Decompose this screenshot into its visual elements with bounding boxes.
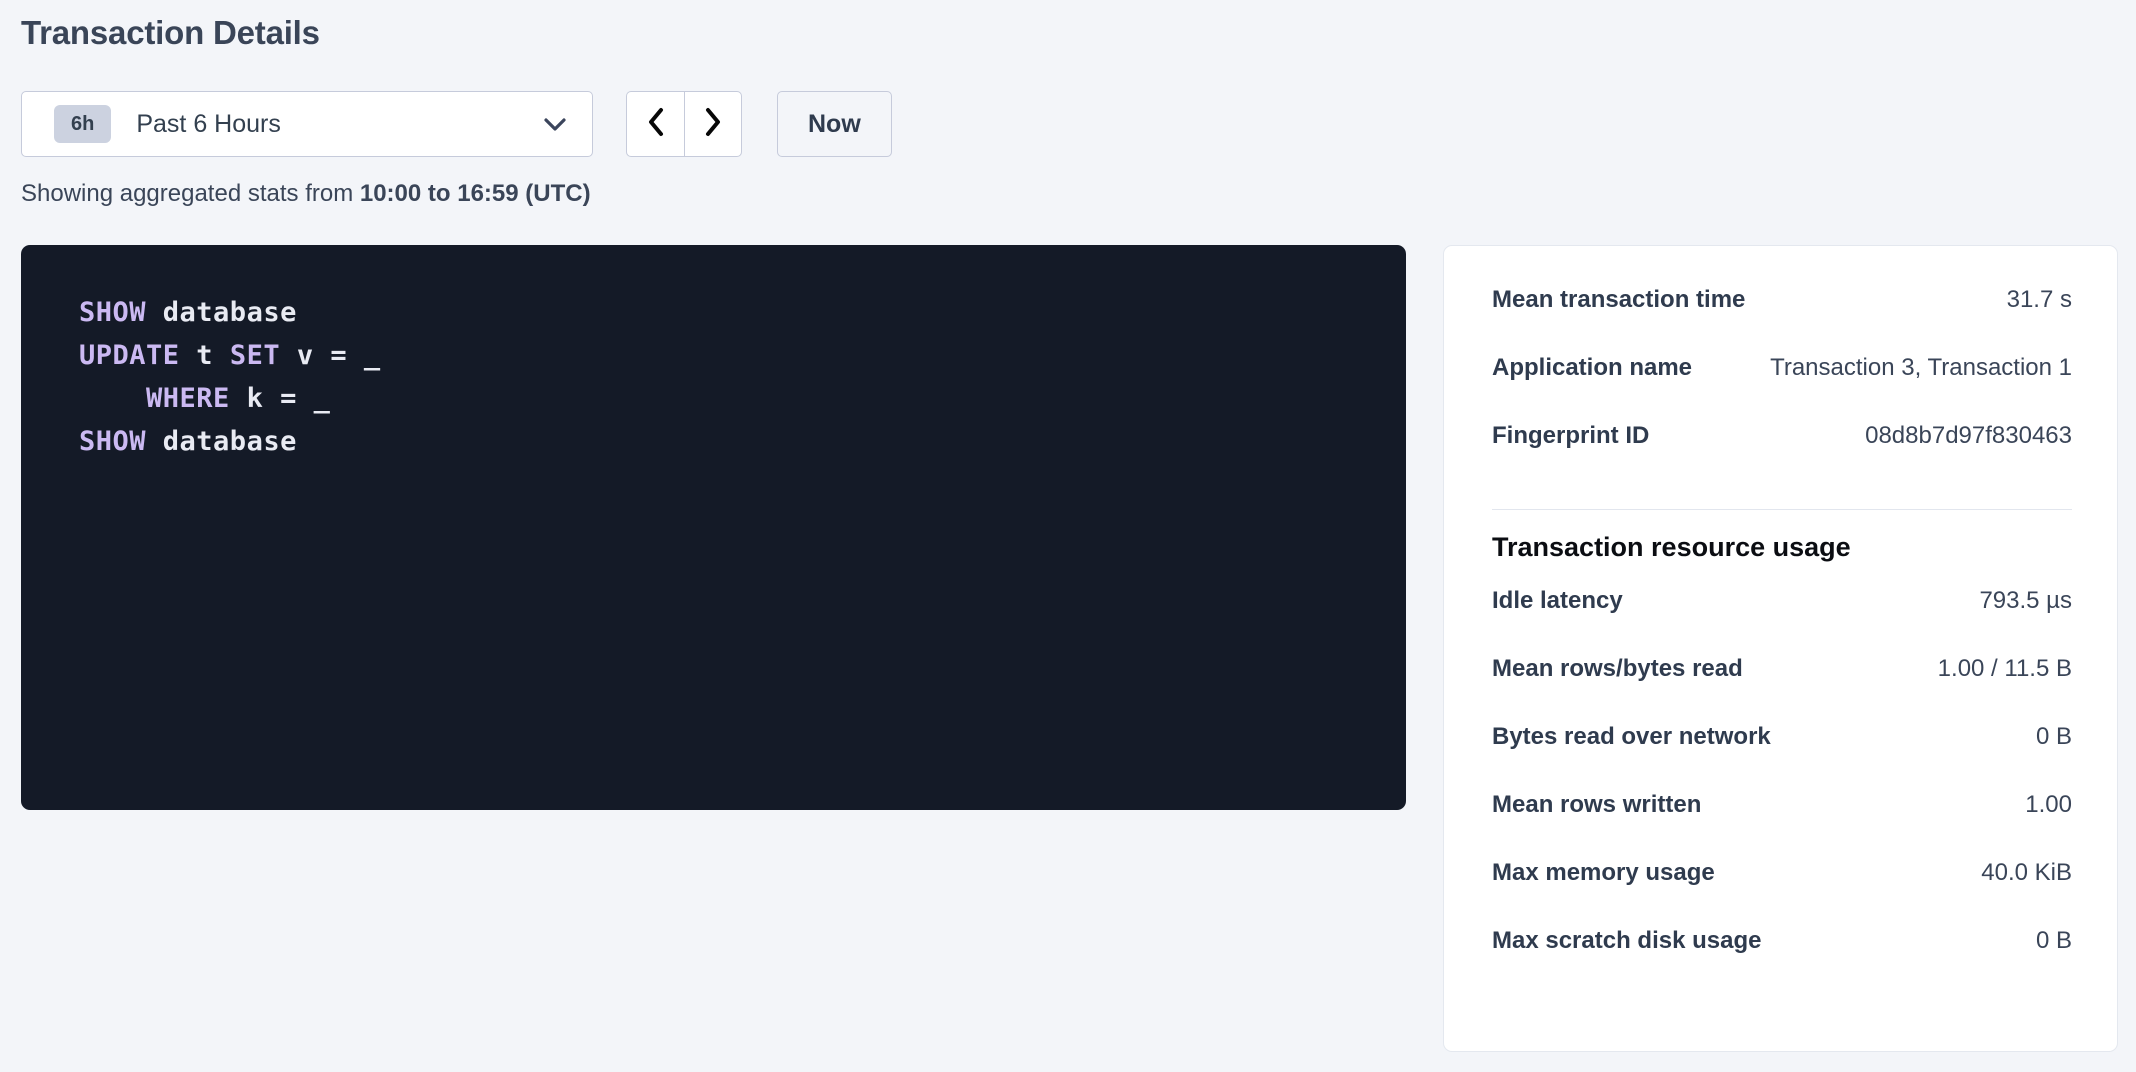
chevron-down-icon — [544, 118, 566, 131]
stat-value: 1.00 — [2011, 791, 2072, 819]
time-range-label: Past 6 Hours — [136, 110, 544, 139]
previous-period-button[interactable] — [626, 91, 684, 157]
stat-row: Application nameTransaction 3, Transacti… — [1492, 354, 2072, 422]
stat-row: Mean rows/bytes read1.00 / 11.5 B — [1492, 655, 2072, 723]
resource-usage-list: Idle latency793.5 µsMean rows/bytes read… — [1492, 587, 2072, 995]
sql-keyword: WHERE — [79, 383, 230, 414]
stat-value: 793.5 µs — [1965, 587, 2072, 615]
range-caption-prefix: Showing aggregated stats from — [21, 180, 360, 207]
time-nav-group — [626, 91, 742, 157]
sql-keyword: SHOW — [79, 297, 146, 328]
stat-value: 40.0 KiB — [1967, 859, 2072, 887]
sql-identifier: database — [146, 426, 297, 457]
resource-usage-heading: Transaction resource usage — [1492, 532, 2072, 563]
stat-value: 31.7 s — [1993, 286, 2072, 314]
sql-identifier: database — [146, 297, 297, 328]
stat-label: Mean rows/bytes read — [1492, 655, 1743, 683]
stat-label: Fingerprint ID — [1492, 422, 1649, 450]
stat-row: Max scratch disk usage0 B — [1492, 927, 2072, 995]
stat-label: Mean rows written — [1492, 791, 1701, 819]
sql-statement-block[interactable]: SHOW database UPDATE t SET v = _ WHERE k… — [21, 245, 1406, 810]
sql-statement-text: SHOW database UPDATE t SET v = _ WHERE k… — [79, 291, 1406, 463]
now-button[interactable]: Now — [777, 91, 892, 157]
transaction-stats-card: Mean transaction time31.7 sApplication n… — [1443, 245, 2118, 1052]
sql-identifier: k = _ — [230, 383, 331, 414]
sql-identifier: t — [180, 340, 230, 371]
stat-label: Max scratch disk usage — [1492, 927, 1761, 955]
sql-keyword: SHOW — [79, 426, 146, 457]
sql-keyword: UPDATE — [79, 340, 180, 371]
section-divider — [1492, 509, 2072, 510]
sql-keyword: SET — [230, 340, 280, 371]
stat-row: Idle latency793.5 µs — [1492, 587, 2072, 655]
stat-value: 0 B — [2022, 927, 2072, 955]
stat-row: Bytes read over network0 B — [1492, 723, 2072, 791]
transaction-overview-list: Mean transaction time31.7 sApplication n… — [1492, 286, 2072, 490]
chevron-right-icon — [702, 107, 724, 142]
stat-label: Idle latency — [1492, 587, 1623, 615]
stat-value: 1.00 / 11.5 B — [1924, 655, 2072, 683]
stat-row: Mean transaction time31.7 s — [1492, 286, 2072, 354]
next-period-button[interactable] — [684, 91, 742, 157]
time-range-badge: 6h — [54, 105, 111, 143]
stat-label: Max memory usage — [1492, 859, 1715, 887]
stat-label: Bytes read over network — [1492, 723, 1771, 751]
stat-value: Transaction 3, Transaction 1 — [1756, 354, 2072, 382]
stat-row: Mean rows written1.00 — [1492, 791, 2072, 859]
stat-value: 08d8b7d97f830463 — [1851, 422, 2072, 450]
transaction-details-page: Transaction Details 6h Past 6 Hours — [0, 0, 2136, 1072]
chevron-left-icon — [645, 107, 667, 142]
page-title: Transaction Details — [21, 14, 320, 52]
stat-row: Fingerprint ID08d8b7d97f830463 — [1492, 422, 2072, 490]
stat-label: Application name — [1492, 354, 1692, 382]
sql-identifier: v = _ — [280, 340, 381, 371]
stat-row: Max memory usage40.0 KiB — [1492, 859, 2072, 927]
range-caption: Showing aggregated stats from 10:00 to 1… — [21, 180, 591, 208]
range-caption-value: 10:00 to 16:59 (UTC) — [360, 180, 591, 207]
stat-label: Mean transaction time — [1492, 286, 1745, 314]
time-range-controls: 6h Past 6 Hours — [21, 91, 892, 157]
stat-value: 0 B — [2022, 723, 2072, 751]
time-range-select[interactable]: 6h Past 6 Hours — [21, 91, 593, 157]
